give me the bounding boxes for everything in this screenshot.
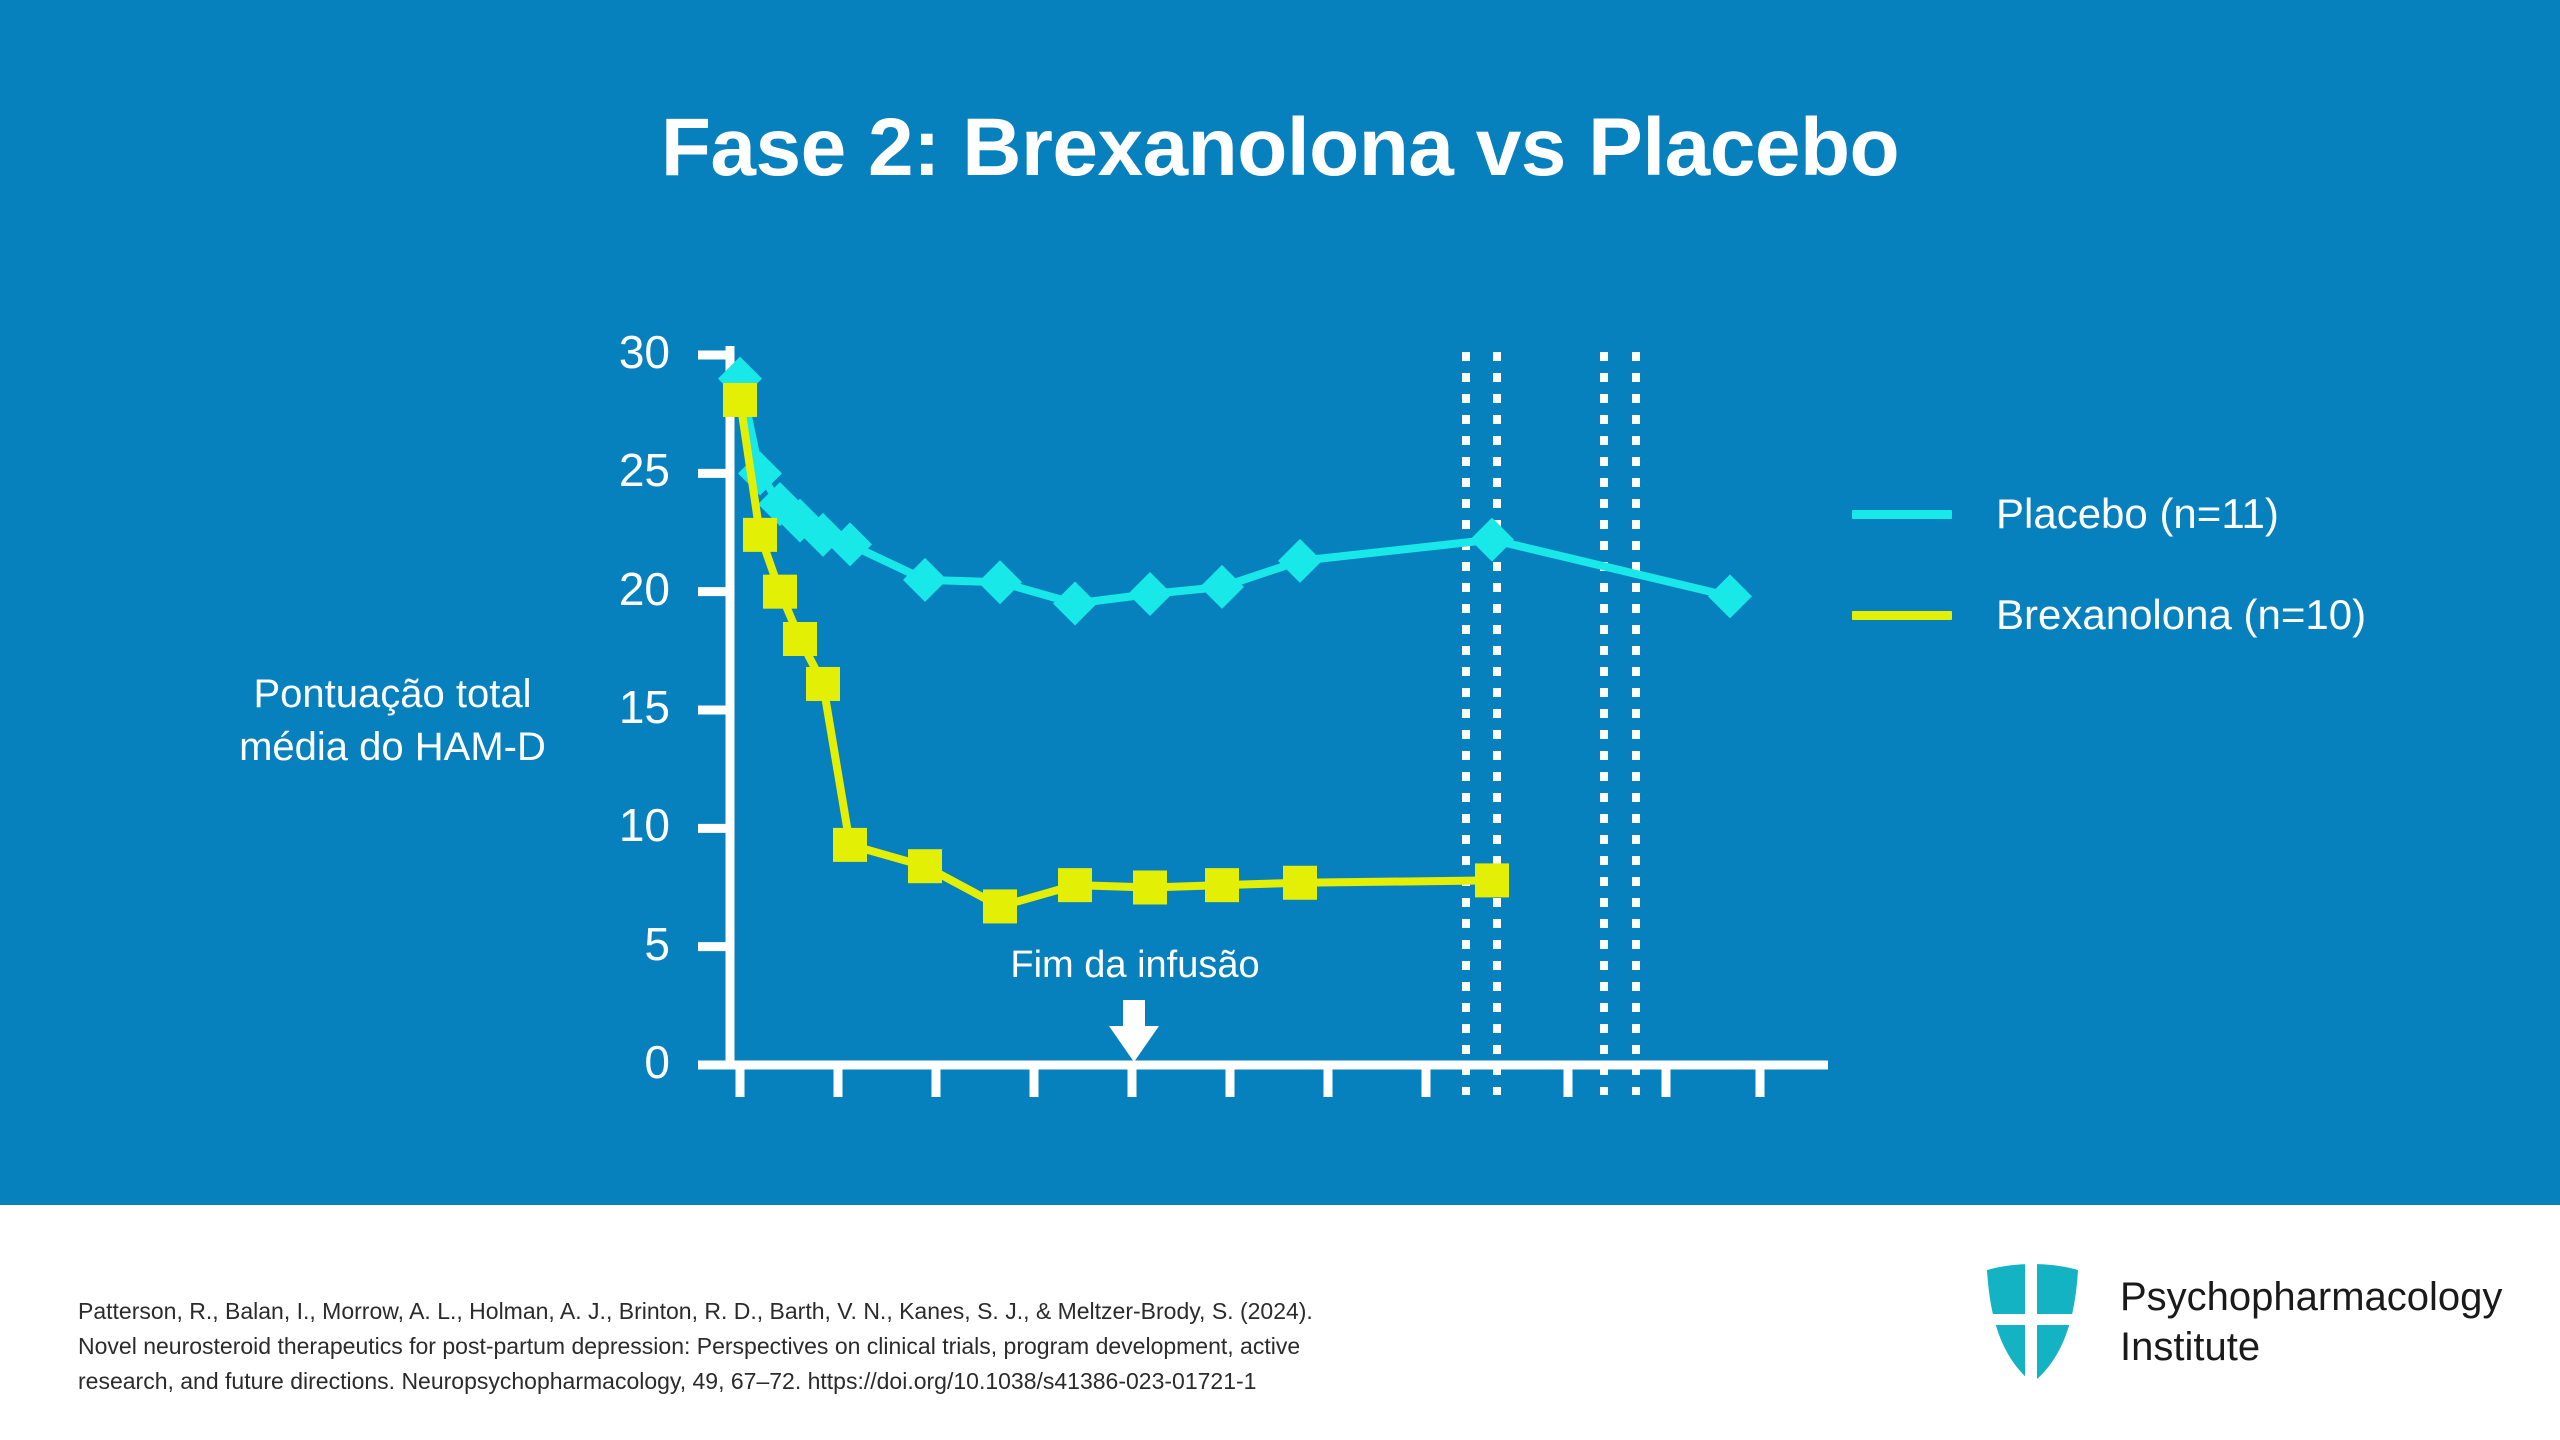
legend-label-placebo: Placebo (n=11) (1996, 493, 2279, 535)
brand-name: Psychopharmacology Institute (2120, 1273, 2502, 1372)
y-tick-label: 25 (560, 447, 670, 493)
y-tick-label: 30 (560, 329, 670, 375)
chart-legend: Placebo (n=11) Brexanolona (n=10) (1852, 490, 2366, 692)
infusion-end-annotation: Fim da infusão (935, 944, 1335, 987)
citation-block: Patterson, R., Balan, I., Morrow, A. L.,… (78, 1294, 1478, 1399)
legend-item-brexanolona: Brexanolona (n=10) (1852, 591, 2366, 639)
y-tick-label: 20 (560, 566, 670, 612)
y-axis-title: Pontuação total média do HAM-D (185, 668, 600, 774)
brand-name-line-1: Psychopharmacology (2120, 1273, 2502, 1323)
y-tick-label: 0 (560, 1039, 670, 1085)
legend-label-brexanolona: Brexanolona (n=10) (1996, 594, 2366, 636)
citation-line-1: Patterson, R., Balan, I., Morrow, A. L.,… (78, 1294, 1478, 1329)
y-tick-label: 15 (560, 684, 670, 730)
legend-swatch-placebo (1852, 510, 1952, 519)
citation-line-3: research, and future directions. Neurops… (78, 1364, 1478, 1399)
slide-root: Fase 2: Brexanolona vs Placebo Pontuação… (0, 0, 2560, 1440)
brand-lockup: Psychopharmacology Institute (1985, 1262, 2502, 1384)
shield-icon (1985, 1262, 2080, 1384)
y-axis-title-line-1: Pontuação total (185, 668, 600, 721)
y-tick-label: 5 (560, 921, 670, 967)
brand-name-line-2: Institute (2120, 1323, 2502, 1373)
citation-line-2: Novel neurosteroid therapeutics for post… (78, 1329, 1478, 1364)
y-axis-title-line-2: média do HAM-D (185, 721, 600, 774)
legend-item-placebo: Placebo (n=11) (1852, 490, 2366, 538)
y-tick-label: 10 (560, 802, 670, 848)
legend-swatch-brexanolona (1852, 611, 1952, 620)
